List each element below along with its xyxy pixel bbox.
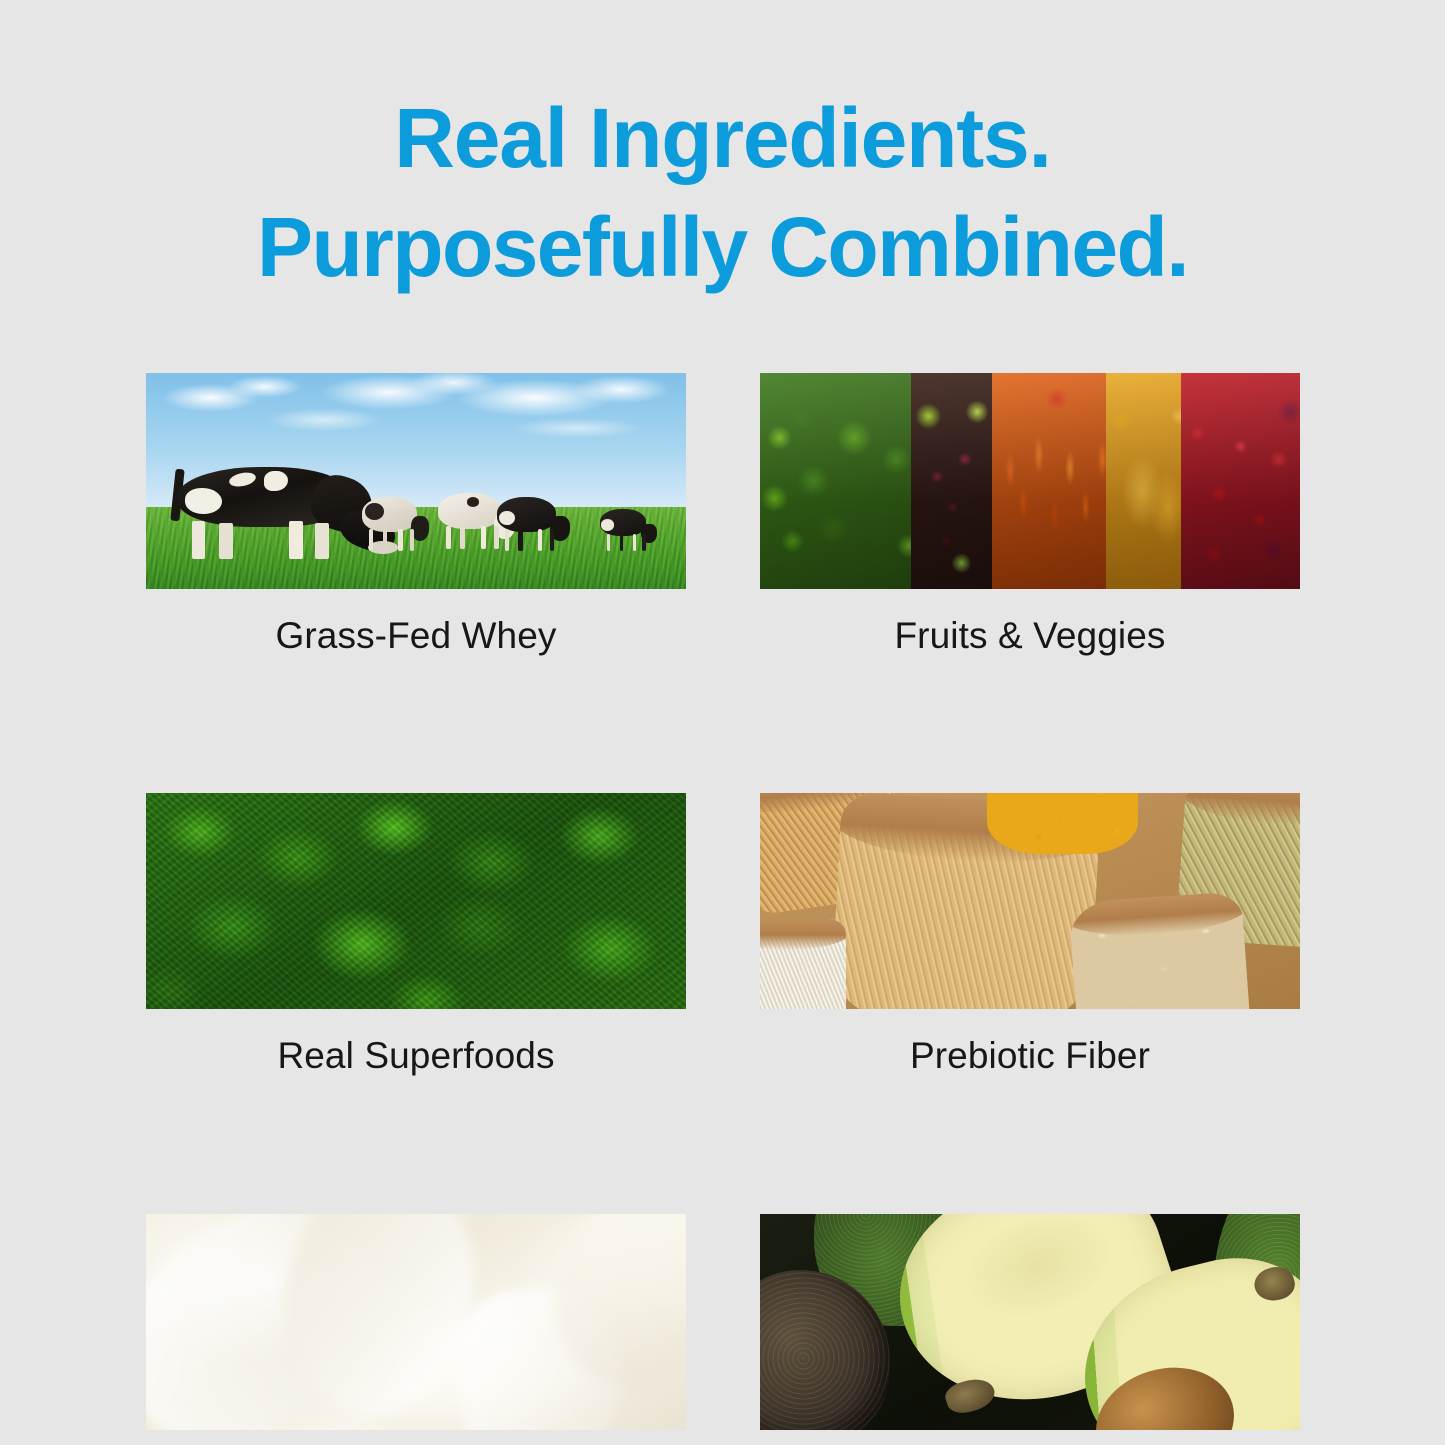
cow-patch bbox=[499, 511, 514, 525]
produce-red-band bbox=[1181, 373, 1300, 589]
cow-leg bbox=[518, 529, 523, 551]
cow-leg bbox=[446, 526, 451, 549]
spinach-leaves-photo bbox=[146, 793, 686, 1009]
ingredient-card-grass-fed-whey[interactable]: Grass-Fed Whey bbox=[146, 373, 686, 659]
cow-leg bbox=[620, 534, 624, 551]
pasture-cows-photo bbox=[146, 373, 686, 589]
grain-sacks-photo bbox=[760, 793, 1300, 1009]
cow-patch bbox=[228, 471, 258, 490]
cow-leg bbox=[219, 523, 233, 559]
ingredient-image-fruits-and-veggies bbox=[760, 373, 1300, 589]
ingredient-image-probiotics bbox=[146, 1214, 686, 1430]
ingredient-card-prebiotic-fiber[interactable]: Prebiotic Fiber bbox=[760, 793, 1300, 1079]
ingredient-card-fruits-and-veggies[interactable]: Fruits & Veggies bbox=[760, 373, 1300, 659]
page-title-line-1: Real Ingredients. bbox=[0, 84, 1445, 193]
produce-orange-band bbox=[992, 373, 1122, 589]
cow-body bbox=[438, 493, 501, 529]
cow-leg bbox=[398, 529, 402, 551]
produce-green-band bbox=[760, 373, 922, 589]
ingredient-image-real-superfoods bbox=[146, 793, 686, 1009]
ingredient-grid: Grass-Fed Whey Fruits & Veggies Rea bbox=[146, 373, 1300, 1445]
cow-leg bbox=[550, 529, 555, 551]
cow-leg bbox=[315, 523, 329, 559]
cow-leg bbox=[607, 534, 611, 551]
ingredient-image-prebiotic-fiber bbox=[760, 793, 1300, 1009]
cow-leg bbox=[538, 529, 543, 551]
yogurt-texture-photo bbox=[146, 1214, 686, 1430]
cow-leg bbox=[505, 529, 510, 551]
ingredient-card-healthy-fats[interactable]: Healthy Fats bbox=[760, 1214, 1300, 1445]
produce-berry-band bbox=[911, 373, 997, 589]
cow-body bbox=[600, 509, 646, 536]
ingredient-card-real-superfoods[interactable]: Real Superfoods bbox=[146, 793, 686, 1079]
cow-leg bbox=[481, 526, 486, 549]
cow-background-icon bbox=[600, 507, 659, 550]
ingredient-label-prebiotic-fiber: Prebiotic Fiber bbox=[760, 1033, 1300, 1079]
ingredient-label-fruits-and-veggies: Fruits & Veggies bbox=[760, 613, 1300, 659]
ingredient-card-probiotics[interactable]: 1 Billion CFU Probiotics bbox=[146, 1214, 686, 1445]
cow-leg bbox=[383, 529, 387, 551]
cow-patch bbox=[365, 503, 384, 520]
ingredient-image-healthy-fats bbox=[760, 1214, 1300, 1430]
avocado-photo bbox=[760, 1214, 1300, 1430]
cow-background-icon bbox=[362, 494, 432, 550]
grain-sack-rolled-oats bbox=[1069, 891, 1251, 1009]
avocado-flesh-ridge bbox=[952, 1214, 1126, 1335]
produce-mango-band bbox=[1106, 373, 1192, 589]
cow-leg bbox=[642, 534, 646, 551]
ingredient-image-grass-fed-whey bbox=[146, 373, 686, 589]
cow-leg bbox=[460, 526, 465, 549]
cow-leg bbox=[192, 521, 206, 559]
cow-patch bbox=[264, 471, 288, 491]
avocado-stem bbox=[943, 1374, 999, 1418]
cow-patch bbox=[185, 488, 223, 514]
ingredient-label-grass-fed-whey: Grass-Fed Whey bbox=[146, 613, 686, 659]
grain-sack-corn bbox=[987, 793, 1138, 853]
cow-leg bbox=[633, 534, 637, 551]
page-title: Real Ingredients. Purposefully Combined. bbox=[0, 84, 1445, 302]
ingredients-page: Real Ingredients. Purposefully Combined. bbox=[0, 0, 1445, 1445]
cow-patch bbox=[601, 519, 615, 531]
cow-leg bbox=[289, 521, 303, 559]
ingredient-label-real-superfoods: Real Superfoods bbox=[146, 1033, 686, 1079]
grain-sack-rice bbox=[760, 919, 846, 1010]
cow-leg bbox=[410, 529, 414, 551]
page-title-line-2: Purposefully Combined. bbox=[0, 193, 1445, 302]
cow-body bbox=[362, 497, 417, 532]
produce-flatlay-photo bbox=[760, 373, 1300, 589]
cow-background-icon bbox=[497, 494, 573, 550]
cow-body bbox=[497, 497, 556, 532]
cow-patch bbox=[467, 497, 480, 507]
grain-corn-kernels bbox=[987, 793, 1138, 853]
cow-leg bbox=[369, 529, 373, 551]
